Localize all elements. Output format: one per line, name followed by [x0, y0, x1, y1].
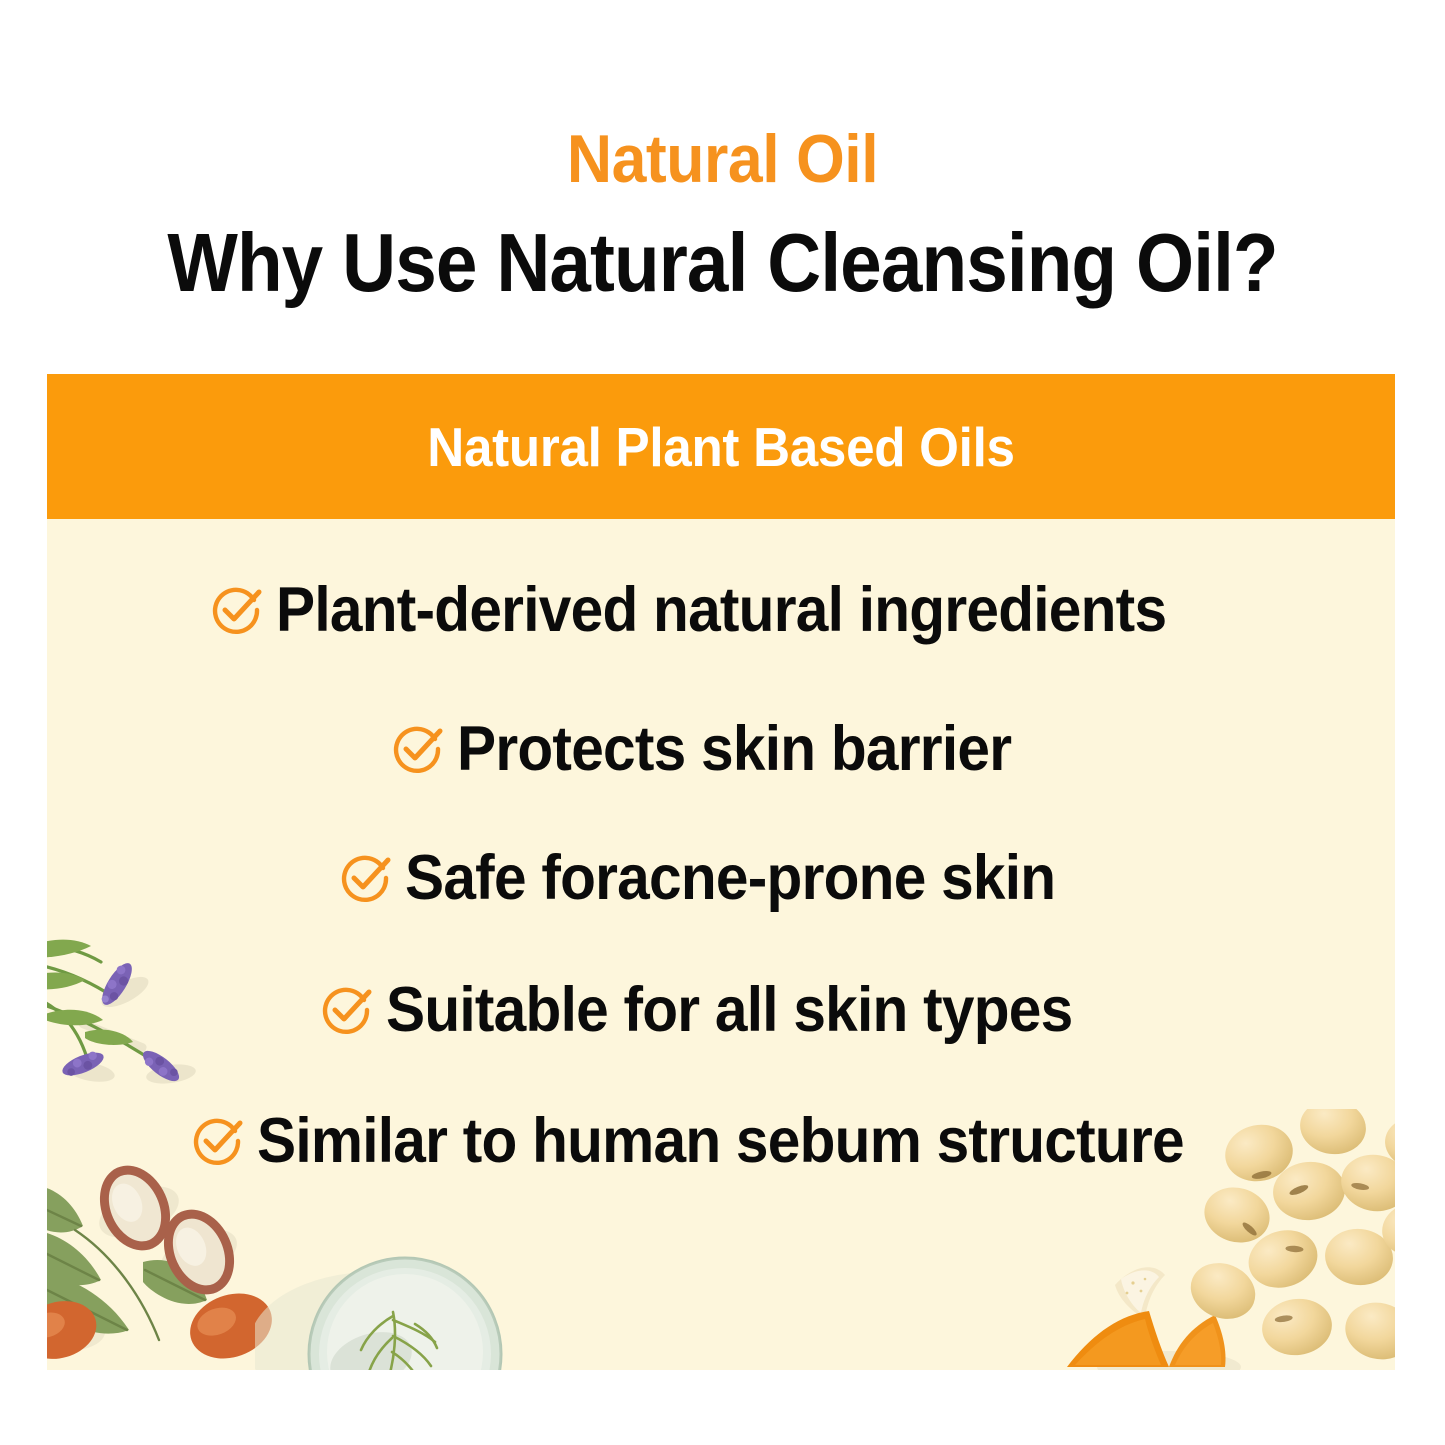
benefit-item: Suitable for all skin types: [47, 976, 1395, 1044]
benefit-label: Plant-derived natural ingredients: [276, 576, 1166, 644]
check-circle-icon: [389, 721, 445, 777]
benefit-label: Suitable for all skin types: [386, 976, 1072, 1044]
check-circle-icon: [189, 1113, 245, 1169]
card-header-title: Natural Plant Based Oils: [94, 374, 1348, 519]
benefit-item: Safe foracne-prone skin: [47, 844, 1395, 912]
benefit-item: Similar to human sebum structure: [47, 1107, 1395, 1175]
check-circle-icon: [208, 582, 264, 638]
card-header-bar: Natural Plant Based Oils: [47, 374, 1395, 519]
eyebrow-title: Natural Oil: [58, 120, 1387, 198]
benefit-item: Plant-derived natural ingredients: [47, 576, 1395, 644]
check-circle-icon: [318, 982, 374, 1038]
check-circle-icon: [337, 850, 393, 906]
benefit-label: Similar to human sebum structure: [257, 1107, 1184, 1175]
benefits-card: Natural Plant Based Oils: [47, 374, 1395, 1370]
page-title: Why Use Natural Cleansing Oil?: [72, 215, 1373, 311]
infographic-page: Natural Oil Why Use Natural Cleansing Oi…: [0, 0, 1445, 1445]
benefit-label: Protects skin barrier: [457, 715, 1011, 783]
benefit-item: Protects skin barrier: [47, 715, 1395, 783]
benefit-label: Safe foracne-prone skin: [405, 844, 1055, 912]
benefits-list: Plant-derived natural ingredients Protec…: [47, 519, 1395, 1370]
